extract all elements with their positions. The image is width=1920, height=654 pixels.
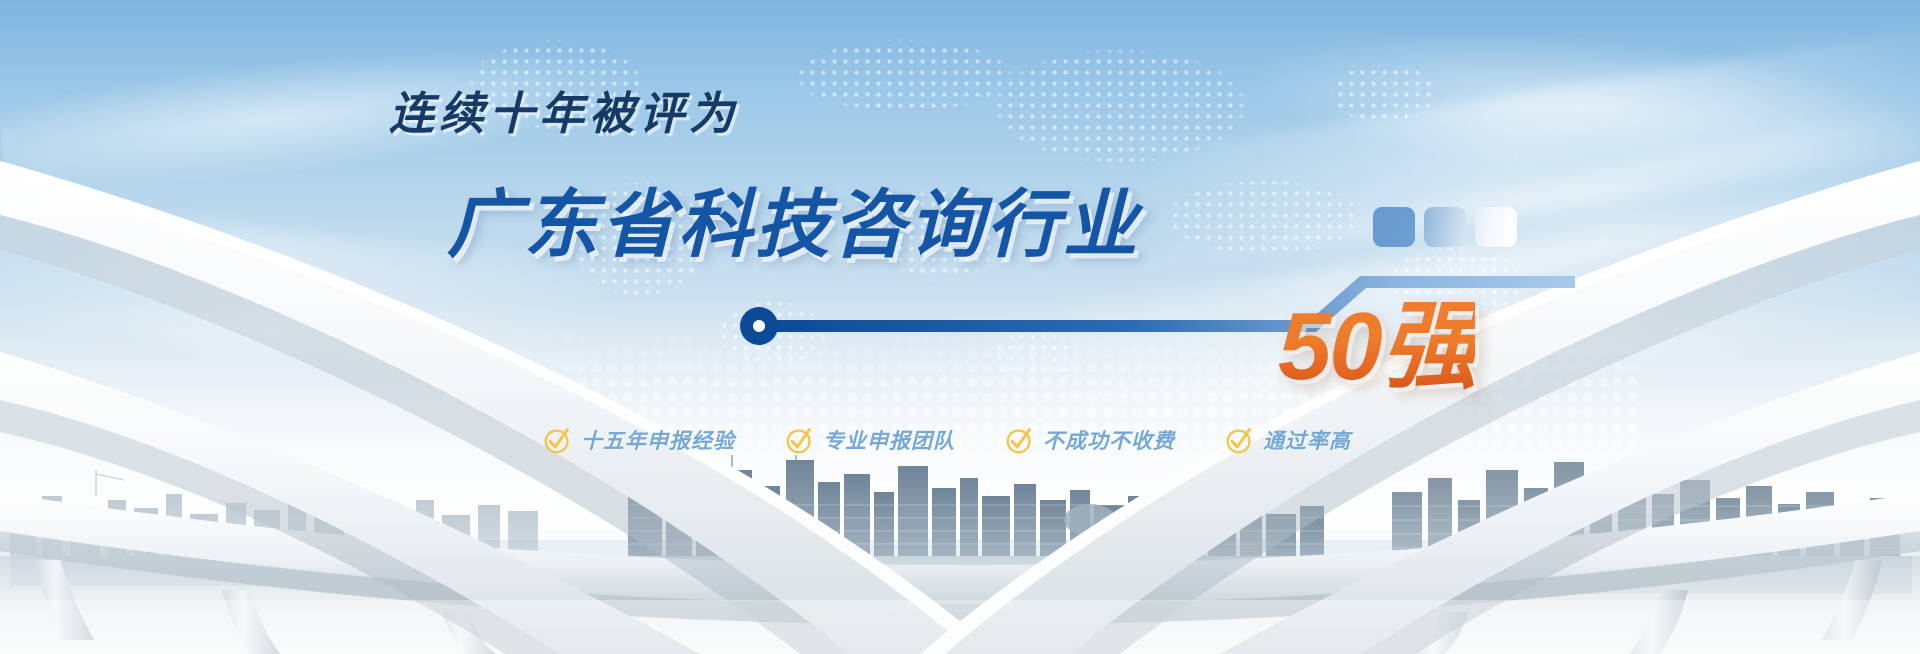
feature-badge-label: 不成功不收费	[1043, 425, 1175, 455]
feature-badge: 通过率高	[1225, 425, 1351, 455]
rank-badge-text: 50强	[1278, 299, 1475, 395]
square-gradient-blue	[1424, 207, 1466, 247]
square-white	[1475, 207, 1517, 247]
kicker-text: 连续十年被评为	[389, 91, 739, 136]
promo-banner: 连续十年被评为 广东省科技咨询行业 50强 十五年申报经验 专业申报团队	[0, 0, 1920, 654]
feature-badge-list: 十五年申报经验 专业申报团队 不成功不收费	[543, 425, 1401, 455]
feature-badge-label: 十五年申报经验	[581, 425, 735, 455]
check-circle-icon	[1225, 426, 1254, 455]
square-solid-blue	[1373, 207, 1415, 247]
check-circle-icon	[543, 426, 572, 455]
feature-badge-label: 通过率高	[1263, 425, 1351, 455]
feature-badge-label: 专业申报团队	[823, 425, 955, 455]
feature-badge: 不成功不收费	[1005, 425, 1175, 455]
feature-badge: 十五年申报经验	[543, 425, 735, 455]
banner-content: 连续十年被评为 广东省科技咨询行业 50强 十五年申报经验 专业申报团队	[0, 0, 1920, 654]
feature-badge: 专业申报团队	[785, 425, 955, 455]
check-circle-icon	[785, 426, 814, 455]
page-title: 广东省科技咨询行业	[447, 188, 1140, 262]
check-circle-icon	[1005, 426, 1034, 455]
square-decoration-group	[1373, 207, 1517, 247]
